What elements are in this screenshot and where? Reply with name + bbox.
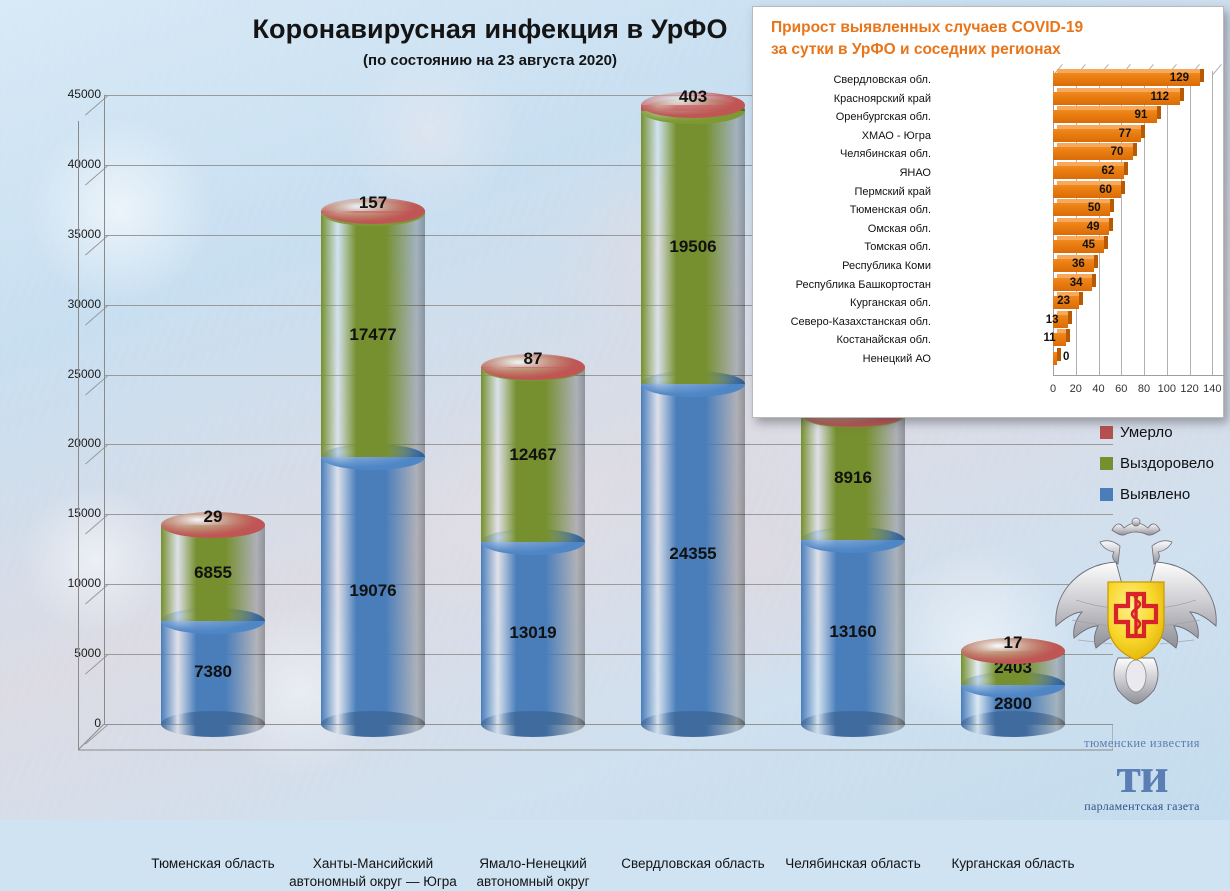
inset-bar-value-label: 77 — [1119, 128, 1132, 140]
inset-bar-side — [1068, 311, 1072, 324]
inset-bar-side — [1109, 218, 1113, 231]
bar-value-label: 6855 — [161, 563, 265, 583]
bar-segment-выявлено[interactable]: 24355 — [641, 384, 745, 724]
inset-bar-value-label: 62 — [1102, 165, 1115, 177]
legend-swatch-icon — [1100, 488, 1113, 501]
inset-bar-value-label: 45 — [1082, 239, 1095, 251]
inset-bar-face — [1053, 240, 1104, 253]
inset-x-axis-tick: 20 — [1070, 383, 1082, 395]
newspaper-tagline: парламентская газета — [1056, 799, 1228, 814]
inset-bar[interactable] — [1053, 222, 1109, 235]
inset-bar-side — [1066, 329, 1070, 342]
inset-category-label: Северо-Казахстанская обл. — [731, 316, 931, 328]
inset-category-label: Республика Коми — [731, 260, 931, 272]
inset-bar-value-label: 23 — [1057, 295, 1070, 307]
inset-chart-title: Прирост выявленных случаев COVID-19 за с… — [771, 17, 1083, 61]
inset-x-axis-tick: 120 — [1180, 383, 1198, 395]
inset-category-label: Омская обл. — [731, 223, 931, 235]
inset-bar-side — [1092, 274, 1096, 287]
bar-value-label-top: 87 — [481, 349, 585, 369]
y-axis-line-front — [78, 121, 79, 750]
legend-swatch-icon — [1100, 457, 1113, 470]
inset-bar-value-label: 70 — [1111, 146, 1124, 158]
bar-segment-выздоровело[interactable]: 8916 — [801, 415, 905, 540]
y-axis-tick: 15000 — [37, 506, 101, 520]
inset-category-label: Пермский край — [731, 186, 931, 198]
x-axis-category-label: Свердловская область — [608, 855, 778, 873]
inset-gridline — [1212, 71, 1213, 375]
inset-bar-value-label: 36 — [1072, 258, 1085, 270]
bar-segment-выявлено[interactable]: 13160 — [801, 540, 905, 724]
inset-bar-top — [1057, 199, 1114, 203]
inset-bar-value-label: 13 — [1046, 314, 1059, 326]
bar-value-label-top: 29 — [161, 507, 265, 527]
x-axis-category-label: Ямало-Ненецкий автономный округ — [448, 855, 618, 891]
inset-category-label: Красноярский край — [731, 93, 931, 105]
inset-bar-value-label: 60 — [1099, 184, 1112, 196]
rospotrebnadzor-emblem — [1046, 516, 1226, 711]
legend-label: Умерло — [1120, 424, 1173, 441]
inset-bar-value-label: 11 — [1044, 332, 1056, 344]
gridline: 20000 — [104, 444, 1113, 445]
bar-value-label: 17477 — [321, 325, 425, 345]
inset-bar-value-label: 0 — [1063, 351, 1069, 363]
y-axis-tick: 45000 — [37, 87, 101, 101]
x-axis-category-label: Курганская область — [928, 855, 1098, 873]
inset-x-axis-tick: 80 — [1138, 383, 1150, 395]
inset-bar-side — [1121, 181, 1125, 194]
bar-value-label: 19076 — [321, 581, 425, 601]
bar-value-label: 19506 — [641, 237, 745, 257]
bar-value-label: 12467 — [481, 445, 585, 465]
bar-value-label-top: 403 — [641, 87, 745, 107]
inset-bar-face — [1053, 222, 1109, 235]
chart-legend: УмерлоВыздоровелоВыявлено — [1100, 424, 1214, 517]
inset-bar-side — [1141, 125, 1145, 138]
inset-bar-side — [1079, 292, 1083, 305]
x-axis-category-label: Ханты-Мансийский автономный округ — Югра — [288, 855, 458, 891]
inset-bar[interactable] — [1053, 240, 1104, 253]
inset-bar-side — [1200, 69, 1204, 82]
y-axis-tick: 25000 — [37, 367, 101, 381]
inset-chart-plot: 020406080100120140Свердловская обл.129Кр… — [753, 65, 1225, 417]
y-axis-tick: 35000 — [37, 227, 101, 241]
bar-value-label: 7380 — [161, 662, 265, 682]
inset-gridline-riser — [1212, 64, 1222, 75]
inset-bar-value-label: 129 — [1170, 72, 1189, 84]
inset-bar-side — [1133, 143, 1137, 156]
inset-bar[interactable] — [1053, 203, 1110, 216]
bar-value-label: 13160 — [801, 622, 905, 642]
inset-bar-top — [1057, 181, 1125, 185]
inset-gridline — [1167, 71, 1168, 375]
inset-bar-value-label: 91 — [1135, 109, 1148, 121]
x-axis-category-label: Тюменская область — [128, 855, 298, 873]
inset-bar-side — [1094, 255, 1098, 268]
newspaper-monogram: ти — [1056, 751, 1228, 799]
segment-bottom-cap — [321, 711, 425, 737]
inset-category-label: ХМАО - Югра — [731, 130, 931, 142]
segment-bottom-cap — [161, 711, 265, 737]
bar-segment-выздоровело[interactable]: 17477 — [321, 213, 425, 457]
segment-bottom-cap — [641, 711, 745, 737]
legend-swatch-icon — [1100, 426, 1113, 439]
bar-segment-умерло[interactable]: 403 — [641, 105, 745, 111]
inset-bar-value-label: 50 — [1088, 202, 1101, 214]
inset-category-label: Свердловская обл. — [731, 74, 931, 86]
inset-bar-side — [1157, 106, 1161, 119]
inset-category-label: Ненецкий АО — [731, 353, 931, 365]
inset-bar-side — [1124, 162, 1128, 175]
inset-bar-side — [1180, 88, 1184, 101]
y-axis-tick: 30000 — [37, 297, 101, 311]
segment-bottom-cap — [801, 711, 905, 737]
y-axis-line — [104, 95, 105, 724]
inset-category-label: Челябинская обл. — [731, 148, 931, 160]
inset-bar-top — [1057, 218, 1113, 222]
bar-value-label-top: 157 — [321, 193, 425, 213]
legend-label: Выявлено — [1120, 486, 1190, 503]
inset-bar-value-label: 34 — [1070, 277, 1083, 289]
inset-x-axis-tick: 60 — [1115, 383, 1127, 395]
inset-bar-side — [1110, 199, 1114, 212]
inset-bar-top — [1057, 143, 1137, 147]
inset-x-axis-tick: 0 — [1050, 383, 1056, 395]
inset-bar-side — [1057, 348, 1061, 361]
inset-category-label: Республика Башкортостан — [731, 279, 931, 291]
legend-item[interactable]: Выявлено — [1100, 486, 1214, 503]
bar-segment-умерло[interactable]: 157 — [321, 211, 425, 213]
inset-x-axis-tick: 40 — [1092, 383, 1104, 395]
bar-segment-выздоровело[interactable]: 19506 — [641, 111, 745, 384]
inset-gridline — [1190, 71, 1191, 375]
inset-bar-value-label: 112 — [1150, 91, 1169, 103]
bar-value-label: 13019 — [481, 623, 585, 643]
segment-bottom-cap — [961, 711, 1065, 737]
y-axis-tick: 10000 — [37, 576, 101, 590]
inset-bar-top — [1057, 125, 1145, 129]
inset-bar-top — [1057, 162, 1128, 166]
inset-chart-panel: Прирост выявленных случаев COVID-19 за с… — [752, 6, 1224, 418]
inset-category-label: Оренбургская обл. — [731, 111, 931, 123]
y-axis-tick: 5000 — [37, 646, 101, 660]
inset-x-axis-tick: 100 — [1158, 383, 1176, 395]
inset-x-axis-tick: 140 — [1203, 383, 1221, 395]
bar-value-label: 8916 — [801, 468, 905, 488]
segment-bottom-cap — [481, 711, 585, 737]
legend-item[interactable]: Умерло — [1100, 424, 1214, 441]
inset-bar-face — [1053, 203, 1110, 216]
inset-category-label: Курганская обл. — [731, 297, 931, 309]
y-axis-tick: 20000 — [37, 436, 101, 450]
inset-category-label: Тюменская обл. — [731, 204, 931, 216]
inset-bar[interactable] — [1053, 352, 1057, 365]
bar-segment-умерло[interactable]: 87 — [481, 367, 585, 368]
x-axis-category-label: Челябинская область — [768, 855, 938, 873]
inset-x-axis-line — [1053, 375, 1224, 376]
bar-segment-выявлено[interactable]: 7380 — [161, 621, 265, 724]
legend-item[interactable]: Выздоровело — [1100, 455, 1214, 472]
bar-segment-выздоровело[interactable]: 12467 — [481, 368, 585, 542]
inset-category-label: Томская обл. — [731, 241, 931, 253]
bar-value-label: 24355 — [641, 544, 745, 564]
legend-label: Выздоровело — [1120, 455, 1214, 472]
bar-segment-выявлено[interactable]: 13019 — [481, 542, 585, 724]
newspaper-logo: тюменские известия ти парламентская газе… — [1056, 736, 1228, 812]
bar-segment-выявлено[interactable]: 19076 — [321, 457, 425, 724]
y-axis-tick: 40000 — [37, 157, 101, 171]
inset-category-label: ЯНАО — [731, 167, 931, 179]
inset-bar-side — [1104, 236, 1108, 249]
inset-bar-value-label: 49 — [1087, 221, 1100, 233]
bar-segment-выздоровело[interactable]: 6855 — [161, 525, 265, 621]
inset-category-label: Костанайская обл. — [731, 334, 931, 346]
